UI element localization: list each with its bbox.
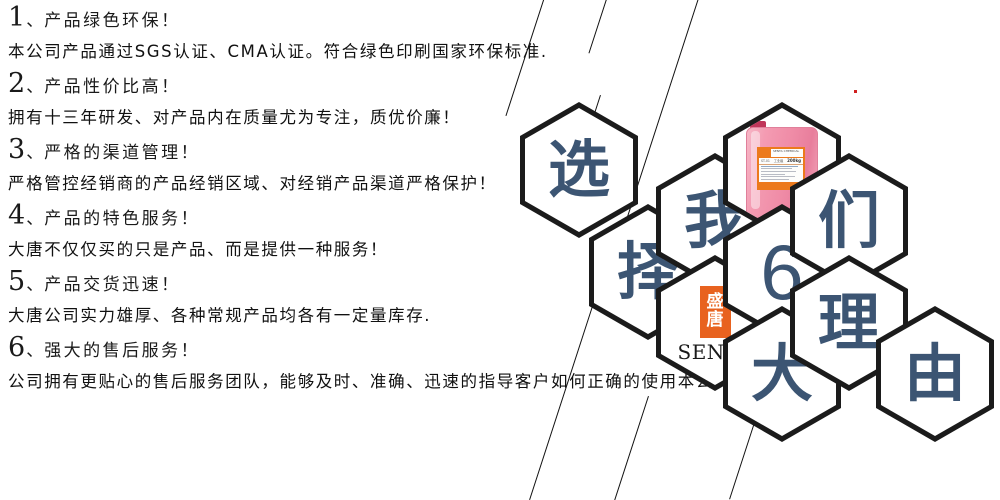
label-line — [761, 176, 795, 177]
hex-label: 理 — [818, 292, 880, 354]
hex-label: 们 — [818, 190, 880, 252]
hex-label: 选 — [548, 139, 610, 201]
hex-label: 由 — [904, 343, 966, 405]
label-line — [761, 171, 796, 172]
label-weight: 200kg — [787, 158, 801, 163]
seal-char-2: 唐 — [707, 312, 724, 330]
label-code: ST-01 — [761, 159, 770, 163]
label-grade: 工业级 — [774, 158, 784, 163]
label-text-block — [759, 165, 803, 183]
hex-cell-xuan: 选 — [520, 102, 638, 238]
label-line — [761, 168, 792, 169]
label-header: SENTA CHEMICAL — [759, 149, 803, 158]
label-line — [761, 174, 785, 175]
label-line — [761, 179, 789, 180]
poster-canvas: 1 、 产品绿色环保！ 本公司产品通过SGS认证、CMA认证。符合绿色印刷国家环… — [0, 0, 1000, 500]
label-line — [761, 166, 798, 167]
honeycomb-graphic: 选 择 我 盛 唐 SENTA — [0, 0, 1000, 500]
label-badge — [759, 149, 771, 157]
label-specs: ST-01 工业级 200kg — [759, 158, 803, 165]
hex-face: 由 — [881, 312, 989, 436]
hex-face: 选 — [525, 108, 633, 232]
label-title: SENTA CHEMICAL — [771, 149, 803, 157]
